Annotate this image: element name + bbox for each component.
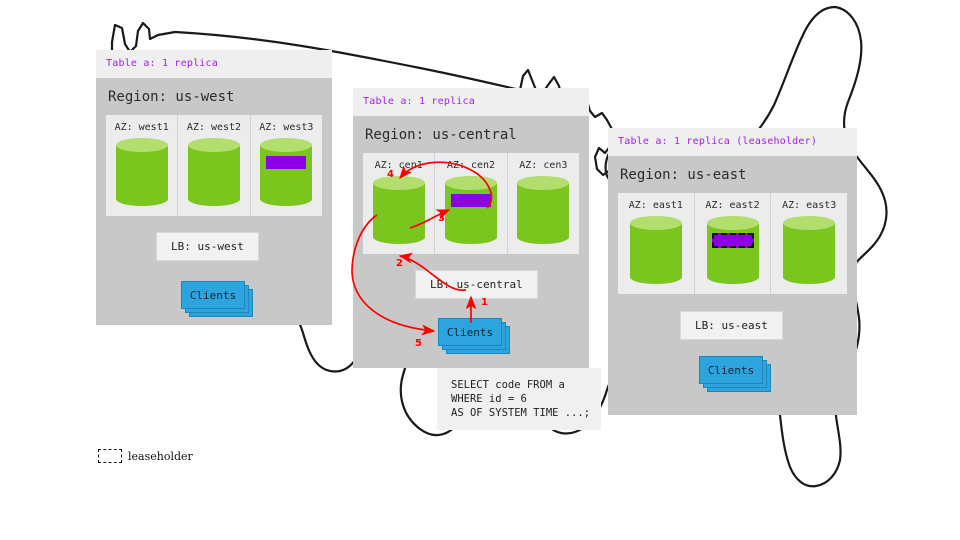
cylinder-top bbox=[630, 216, 682, 230]
legend: leaseholder bbox=[98, 449, 193, 463]
diagram-stage: Table a: 1 replica Region: us-west AZ: w… bbox=[0, 0, 960, 540]
az-row-us-west: AZ: west1 AZ: west2 AZ: west3 bbox=[106, 115, 322, 216]
cylinder-body bbox=[783, 223, 835, 277]
cylinder-top bbox=[260, 138, 312, 152]
az-row-us-east: AZ: east1 AZ: east2 AZ: east3 bbox=[618, 193, 847, 294]
step-number-1: 1 bbox=[481, 297, 488, 308]
replica-banner-us-west: Table a: 1 replica bbox=[96, 50, 332, 78]
step-number-5: 5 bbox=[415, 338, 422, 349]
cylinder-body bbox=[707, 223, 759, 277]
node-cylinder-cen3[interactable] bbox=[517, 176, 569, 244]
az-cell-east3[interactable]: AZ: east3 bbox=[771, 193, 847, 294]
clients-card-front[interactable]: Clients bbox=[699, 356, 763, 384]
cylinder-body bbox=[517, 183, 569, 237]
step-number-4: 4 bbox=[387, 169, 394, 180]
cylinder-top bbox=[116, 138, 168, 152]
az-cell-cen3[interactable]: AZ: cen3 bbox=[508, 153, 579, 254]
clients-stack-us-east[interactable]: Clients bbox=[699, 356, 771, 392]
region-title-us-central: Region: us-central bbox=[353, 116, 589, 153]
replica-banner-us-east: Table a: 1 replica (leaseholder) bbox=[608, 128, 857, 156]
lb-box-us-central[interactable]: LB: us-central bbox=[415, 270, 538, 299]
az-label-east1: AZ: east1 bbox=[618, 200, 694, 211]
dashed-rect-swatch-icon bbox=[98, 449, 122, 463]
region-title-us-west: Region: us-west bbox=[96, 78, 332, 115]
node-cylinder-west1[interactable] bbox=[116, 138, 168, 206]
az-cell-west2[interactable]: AZ: west2 bbox=[178, 115, 250, 216]
cylinder-body bbox=[260, 145, 312, 199]
node-cylinder-cen1[interactable] bbox=[373, 176, 425, 244]
az-label-west3: AZ: west3 bbox=[251, 122, 322, 133]
az-cell-east2[interactable]: AZ: east2 bbox=[695, 193, 772, 294]
range-replica-leaseholder-east2[interactable] bbox=[712, 233, 754, 248]
region-panel-us-west: Table a: 1 replica Region: us-west AZ: w… bbox=[96, 50, 332, 325]
node-cylinder-west2[interactable] bbox=[188, 138, 240, 206]
az-label-west1: AZ: west1 bbox=[106, 122, 177, 133]
az-label-east3: AZ: east3 bbox=[771, 200, 847, 211]
clients-card-front[interactable]: Clients bbox=[181, 281, 245, 309]
lb-box-us-west[interactable]: LB: us-west bbox=[156, 232, 259, 261]
replica-banner-us-central: Table a: 1 replica bbox=[353, 88, 589, 116]
step-number-2: 2 bbox=[396, 258, 403, 269]
range-replica-west3[interactable] bbox=[266, 156, 306, 169]
az-label-cen3: AZ: cen3 bbox=[508, 160, 579, 171]
node-cylinder-east1[interactable] bbox=[630, 216, 682, 284]
cylinder-body bbox=[373, 183, 425, 237]
az-cell-cen1[interactable]: AZ: cen1 bbox=[363, 153, 435, 254]
az-label-cen1: AZ: cen1 bbox=[363, 160, 434, 171]
cylinder-body bbox=[630, 223, 682, 277]
cylinder-body bbox=[445, 183, 497, 237]
region-panel-us-east: Table a: 1 replica (leaseholder) Region:… bbox=[608, 128, 857, 415]
range-replica-cen2[interactable] bbox=[451, 194, 491, 207]
region-title-us-east: Region: us-east bbox=[608, 156, 857, 193]
cylinder-body bbox=[188, 145, 240, 199]
region-panel-us-central: Table a: 1 replica Region: us-central AZ… bbox=[353, 88, 589, 368]
clients-stack-us-central[interactable]: Clients bbox=[438, 318, 510, 354]
lb-box-us-east[interactable]: LB: us-east bbox=[680, 311, 783, 340]
cylinder-body bbox=[116, 145, 168, 199]
node-cylinder-west3[interactable] bbox=[260, 138, 312, 206]
az-cell-east1[interactable]: AZ: east1 bbox=[618, 193, 695, 294]
cylinder-top bbox=[517, 176, 569, 190]
clients-stack-us-west[interactable]: Clients bbox=[181, 281, 253, 317]
az-row-us-central: AZ: cen1 AZ: cen2 AZ: cen3 bbox=[363, 153, 579, 254]
legend-label: leaseholder bbox=[128, 450, 193, 463]
az-cell-cen2[interactable]: AZ: cen2 bbox=[435, 153, 507, 254]
az-label-cen2: AZ: cen2 bbox=[435, 160, 506, 171]
cylinder-top bbox=[373, 176, 425, 190]
sql-query-box: SELECT code FROM a WHERE id = 6 AS OF SY… bbox=[437, 368, 601, 430]
node-cylinder-east3[interactable] bbox=[783, 216, 835, 284]
cylinder-top bbox=[445, 176, 497, 190]
clients-card-front[interactable]: Clients bbox=[438, 318, 502, 346]
cylinder-top bbox=[707, 216, 759, 230]
az-label-west2: AZ: west2 bbox=[178, 122, 249, 133]
az-label-east2: AZ: east2 bbox=[695, 200, 771, 211]
cylinder-top bbox=[783, 216, 835, 230]
cylinder-top bbox=[188, 138, 240, 152]
node-cylinder-east2[interactable] bbox=[707, 216, 759, 284]
step-number-3: 3 bbox=[438, 213, 445, 224]
az-cell-west1[interactable]: AZ: west1 bbox=[106, 115, 178, 216]
node-cylinder-cen2[interactable] bbox=[445, 176, 497, 244]
az-cell-west3[interactable]: AZ: west3 bbox=[251, 115, 322, 216]
